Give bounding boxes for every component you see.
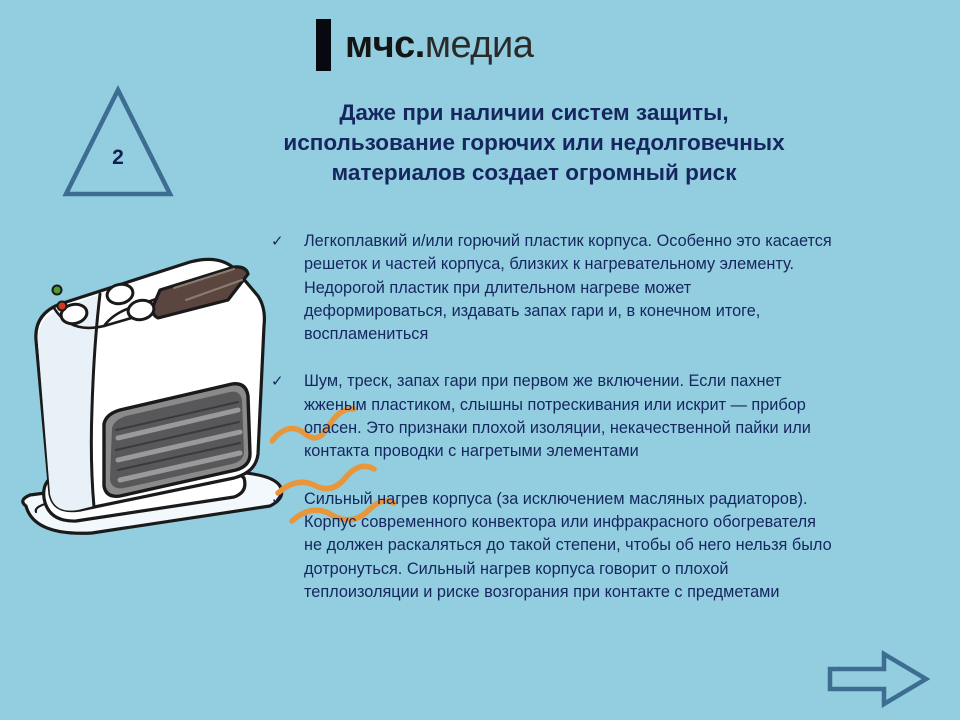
bullet-line: Шум, треск, запах гари при первом же вкл… (304, 370, 908, 393)
logo-bold-text: мчс. (345, 24, 425, 66)
bullet-line: дотронуться. Сильный нагрев корпуса гово… (304, 558, 908, 581)
bullet-line: Корпус современного конвектора или инфра… (304, 511, 908, 534)
bullet-line: не должен раскаляться до такой степени, … (304, 534, 908, 557)
bullet-line: решеток и частей корпуса, близких к нагр… (304, 253, 908, 276)
triangle-icon (62, 84, 174, 200)
bullet-line: жженым пластиком, слышны потрескивания и… (304, 394, 908, 417)
arrow-right-icon[interactable] (826, 650, 930, 708)
bullet-line: воспламениться (304, 323, 908, 346)
check-icon: ✓ (271, 489, 284, 511)
bullet-line: деформироваться, издавать запах гари и, … (304, 300, 908, 323)
slide-canvas: мчс.медиа 2 Даже при наличии систем защи… (0, 0, 960, 720)
page-title-line-1: Даже при наличии систем защиты, (196, 98, 872, 128)
bullet-line: Легкоплавкий и/или горючий пластик корпу… (304, 230, 908, 253)
logo-bar-icon (316, 19, 331, 71)
logo-light-text: медиа (425, 24, 533, 66)
brand-logo: мчс.медиа (316, 16, 533, 74)
page-title-line-3: материалов создает огромный риск (196, 158, 872, 188)
logo-wordmark: мчс.медиа (345, 26, 533, 64)
list-item: ✓ Шум, треск, запах гари при первом же в… (268, 370, 908, 463)
step-number-badge: 2 (62, 84, 174, 200)
page-title: Даже при наличии систем защиты, использо… (196, 98, 872, 188)
bullet-line: контакта проводки с нагретыми элементами (304, 440, 908, 463)
fan-heater-illustration (8, 248, 298, 558)
page-title-line-2: использование горючих или недолговечных (196, 128, 872, 158)
bullet-line: теплоизоляции и риске возгорания при кон… (304, 581, 908, 604)
fan-heater-icon (8, 248, 298, 558)
bullet-line: опасен. Это признаки плохой изоляции, не… (304, 417, 908, 440)
next-arrow-button[interactable] (826, 650, 930, 708)
list-item: ✓ Легкоплавкий и/или горючий пластик кор… (268, 230, 908, 346)
step-number: 2 (62, 146, 174, 170)
list-item: ✓ Сильный нагрев корпуса (за исключением… (268, 488, 908, 604)
bullet-line: Недорогой пластик при длительном нагреве… (304, 277, 908, 300)
check-icon: ✓ (271, 231, 284, 253)
bullet-line: Сильный нагрев корпуса (за исключением м… (304, 488, 908, 511)
bullet-list: ✓ Легкоплавкий и/или горючий пластик кор… (268, 230, 908, 604)
check-icon: ✓ (271, 371, 284, 393)
